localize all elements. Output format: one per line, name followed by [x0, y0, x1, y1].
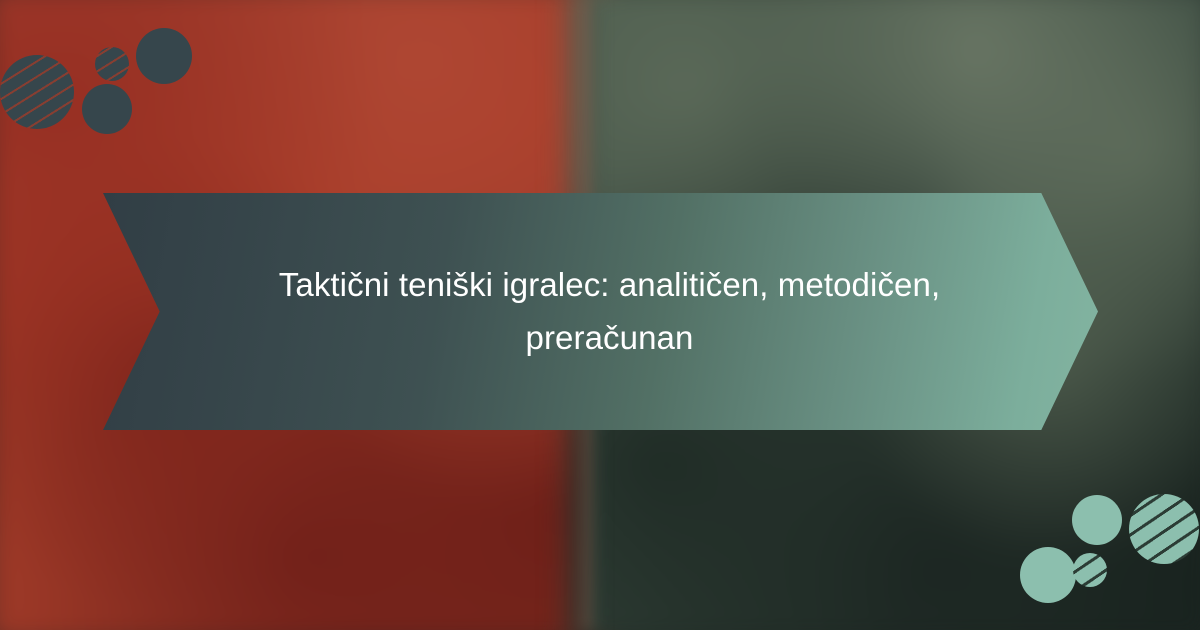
banner-headline: Taktični teniški igralec: analitičen, me…	[215, 259, 1005, 365]
arrow-banner: Taktični teniški igralec: analitičen, me…	[103, 193, 1098, 430]
banner-graphic: Taktični teniški igralec: analitičen, me…	[0, 0, 1200, 630]
